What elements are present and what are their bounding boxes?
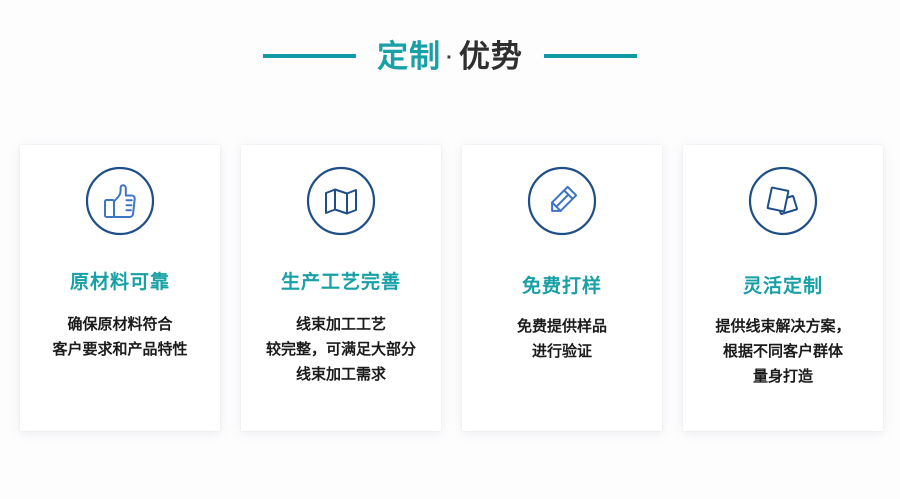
- advantage-card[interactable]: 灵活定制 提供线束解决方案， 根据不同客户群体 量身打造: [683, 145, 883, 431]
- header-rule-right: [544, 54, 637, 58]
- advantage-card[interactable]: 生产工艺完善 线束加工工艺 较完整，可满足大部分 线束加工需求: [241, 145, 441, 431]
- thumbs-up-icon: [84, 165, 156, 237]
- advantage-card-body: 确保原材料符合 客户要求和产品特性: [52, 312, 187, 362]
- advantage-card-title: 生产工艺完善: [281, 273, 401, 292]
- page-title-separator: ·: [446, 48, 454, 68]
- advantage-cards-row: 原材料可靠 确保原材料符合 客户要求和产品特性 生产工艺完善 线束加工工艺 较完…: [20, 145, 884, 431]
- folded-map-icon: [305, 165, 377, 237]
- advantage-card-line: 客户要求和产品特性: [52, 337, 187, 362]
- advantage-card[interactable]: 免费打样 免费提供样品 进行验证: [462, 145, 662, 431]
- advantage-card-line: 提供线束解决方案，: [715, 314, 850, 339]
- advantage-card-line: 根据不同客户群体: [715, 339, 850, 364]
- page-title-dark: 优势: [459, 41, 523, 72]
- advantage-card-line: 较完整，可满足大部分: [266, 337, 416, 362]
- advantage-card-line: 免费提供样品: [517, 314, 607, 339]
- advantage-card-body: 线束加工工艺 较完整，可满足大部分 线束加工需求: [266, 312, 416, 387]
- advantage-card[interactable]: 原材料可靠 确保原材料符合 客户要求和产品特性: [20, 145, 220, 431]
- advantage-card-line: 确保原材料符合: [52, 312, 187, 337]
- advantage-card-title: 原材料可靠: [70, 273, 170, 292]
- advantage-card-body: 免费提供样品 进行验证: [517, 314, 607, 364]
- pencil-icon: [526, 165, 598, 237]
- stacked-pages-icon: [747, 165, 819, 237]
- header-rule-left: [263, 54, 356, 58]
- advantage-card-body: 提供线束解决方案， 根据不同客户群体 量身打造: [715, 314, 850, 389]
- advantage-card-title: 灵活定制: [743, 277, 823, 296]
- section-header: 定制 · 优势: [0, 28, 900, 84]
- page-title: 定制 · 优势: [377, 41, 523, 72]
- page-title-accent: 定制: [377, 41, 441, 72]
- advantage-card-line: 进行验证: [517, 339, 607, 364]
- advantage-card-line: 线束加工需求: [266, 362, 416, 387]
- advantage-card-line: 量身打造: [715, 364, 850, 389]
- advantage-card-title: 免费打样: [522, 277, 602, 296]
- advantage-card-line: 线束加工工艺: [266, 312, 416, 337]
